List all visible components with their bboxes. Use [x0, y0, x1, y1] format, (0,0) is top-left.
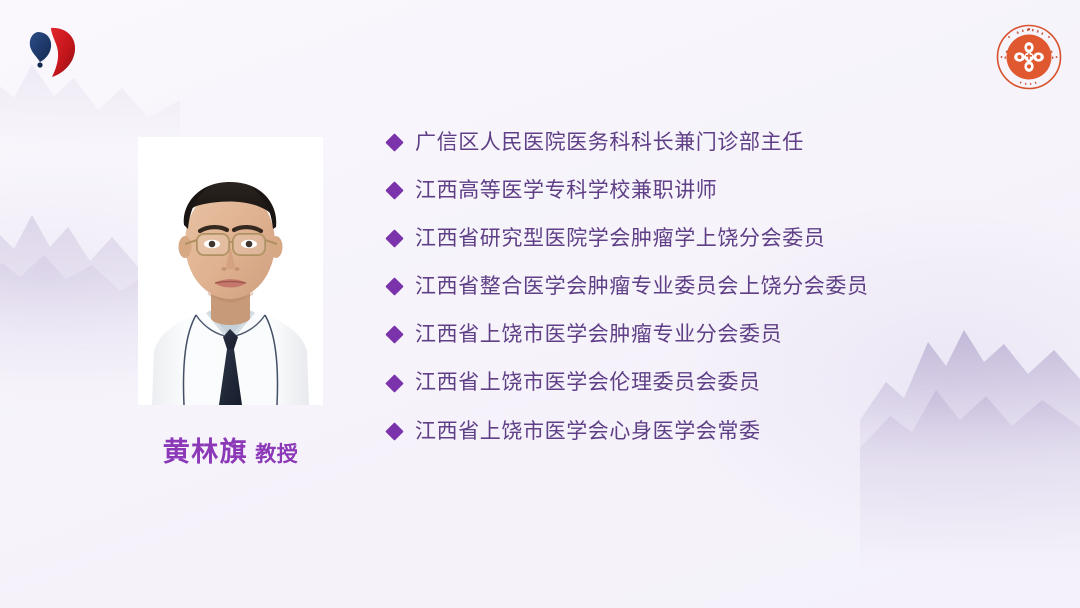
credential-text: 江西省上饶市医学会肿瘤专业分会委员	[415, 322, 782, 347]
speaker-portrait	[138, 137, 323, 405]
organization-logo-left	[20, 24, 82, 80]
credentials-list: 广信区人民医院医务科科长兼门诊部主任 江西高等医学专科学校兼职讲师 江西省研究型…	[388, 118, 1028, 455]
speaker-introduction-slide: 黄林旗教授 广信区人民医院医务科科长兼门诊部主任 江西高等医学专科学校兼职讲师 …	[0, 0, 1080, 608]
diamond-bullet-icon	[385, 229, 403, 247]
list-item: 江西省整合医学会肿瘤专业委员会上饶分会委员	[388, 263, 1028, 311]
credential-text: 江西省研究型医院学会肿瘤学上饶分会委员	[415, 226, 825, 251]
diamond-bullet-icon	[385, 133, 403, 151]
speaker-portrait-image	[138, 137, 323, 405]
credential-text: 江西省整合医学会肿瘤专业委员会上饶分会委员	[415, 274, 869, 299]
diamond-bullet-icon	[385, 374, 403, 392]
diamond-bullet-icon	[385, 181, 403, 199]
speaker-name-block: 黄林旗教授	[138, 430, 323, 469]
credential-text: 江西高等医学专科学校兼职讲师	[415, 178, 717, 203]
diamond-bullet-icon	[385, 422, 403, 440]
list-item: 江西高等医学专科学校兼职讲师	[388, 166, 1028, 214]
speaker-title-text: 教授	[255, 442, 298, 466]
diamond-bullet-icon	[385, 326, 403, 344]
credential-text: 广信区人民医院医务科科长兼门诊部主任	[415, 130, 804, 155]
list-item: 江西省上饶市医学会心身医学会常委	[388, 407, 1028, 455]
list-item: 江西省研究型医院学会肿瘤学上饶分会委员	[388, 214, 1028, 262]
list-item: 江西省上饶市医学会肿瘤专业分会委员	[388, 311, 1028, 359]
list-item: 江西省上饶市医学会伦理委员会委员	[388, 359, 1028, 407]
hospital-seal-logo	[996, 24, 1062, 90]
diamond-bullet-icon	[385, 277, 403, 295]
list-item: 广信区人民医院医务科科长兼门诊部主任	[388, 118, 1028, 166]
speaker-name-text: 黄林旗	[163, 437, 249, 468]
credential-text: 江西省上饶市医学会伦理委员会委员	[415, 370, 761, 395]
credential-text: 江西省上饶市医学会心身医学会常委	[415, 419, 761, 444]
